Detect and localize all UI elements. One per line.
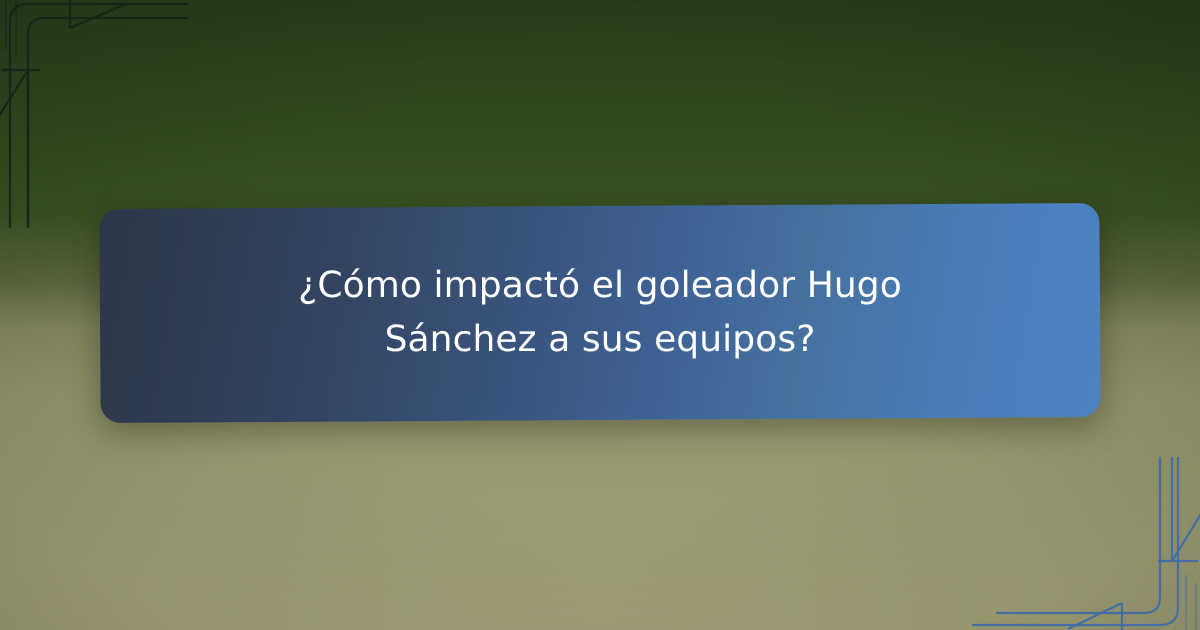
question-card: ¿Cómo impactó el goleador Hugo Sánchez a… xyxy=(99,203,1100,423)
question-title: ¿Cómo impactó el goleador Hugo Sánchez a… xyxy=(220,259,980,367)
og-card-canvas: ¿Cómo impactó el goleador Hugo Sánchez a… xyxy=(0,0,1200,630)
